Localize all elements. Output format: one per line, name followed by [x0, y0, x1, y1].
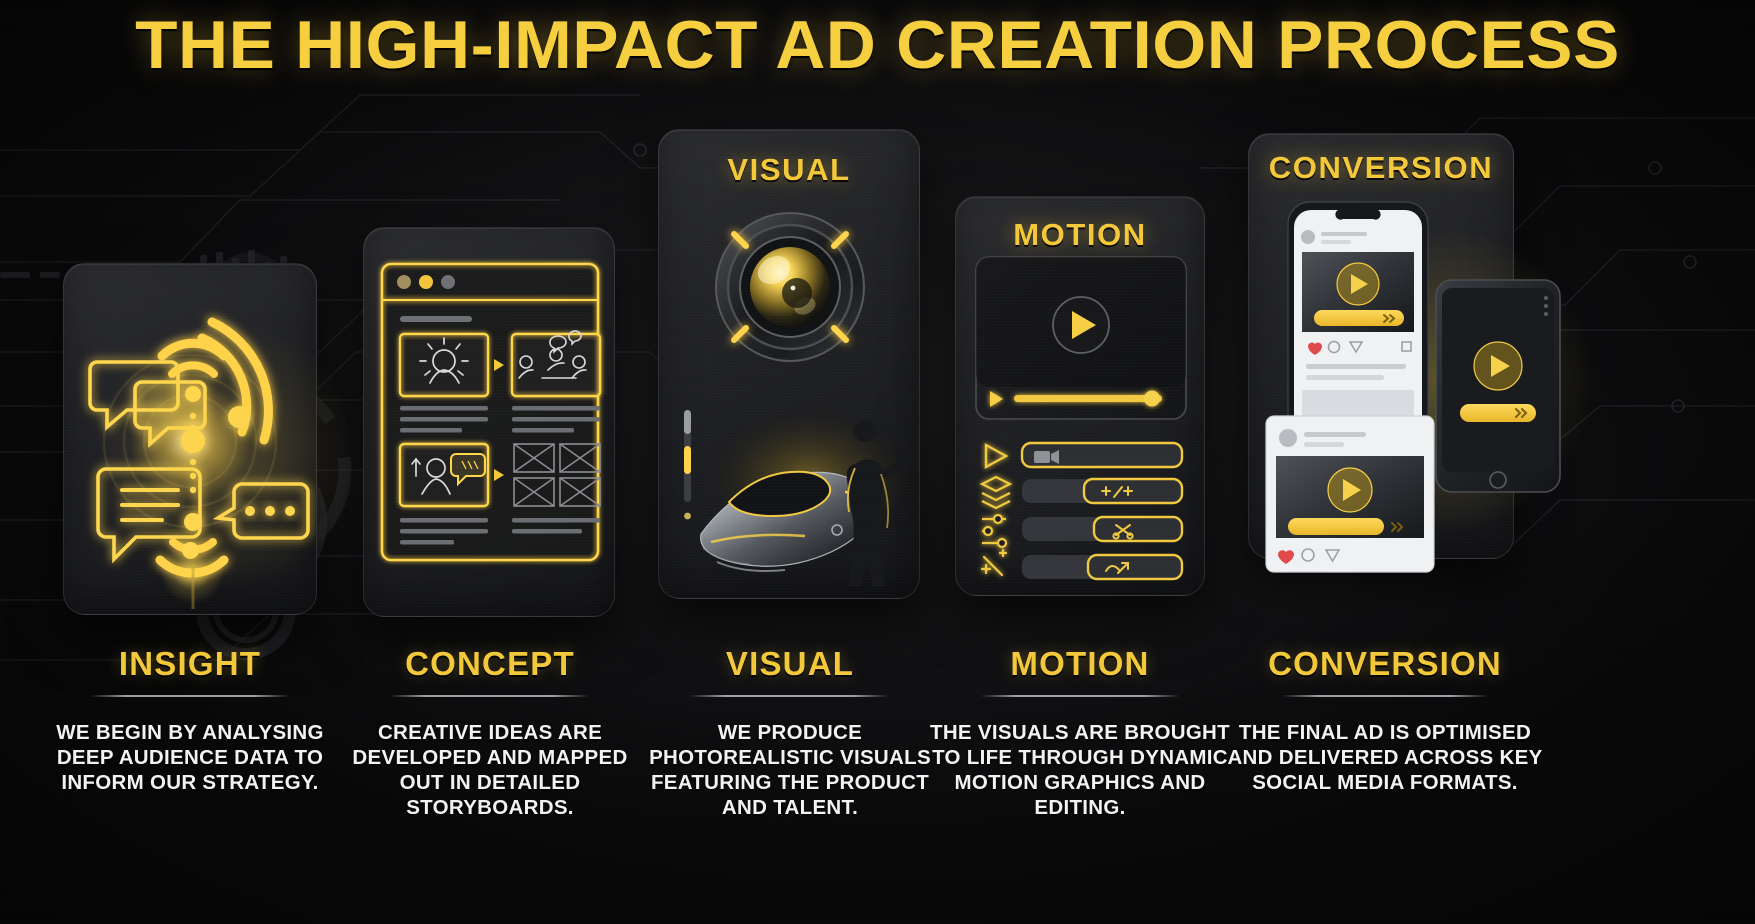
step-divider-insight: [90, 695, 290, 697]
step-description-concept: CREATIVE IDEAS ARE DEVELOPED AND MAPPED …: [330, 720, 650, 820]
step-divider-visual: [689, 695, 889, 697]
step-divider-motion: [980, 695, 1180, 697]
insight-illustration: [64, 264, 317, 615]
step-divider-conversion: [1282, 695, 1488, 697]
step-description-conversion: THE FINAL AD IS OPTIMISED AND DELIVERED …: [1220, 720, 1550, 795]
motion-card-title: MOTION: [956, 217, 1204, 253]
concept-illustration: [364, 228, 615, 617]
step-description-motion: THE VISUALS ARE BROUGHT TO LIFE THROUGH …: [915, 720, 1245, 820]
wand-icon: [982, 550, 1006, 575]
step-label-conversion: CONVERSION: [1185, 645, 1585, 683]
page-title: THE HIGH-IMPACT AD CREATION PROCESS: [0, 6, 1755, 84]
sliders-icon: [982, 515, 1006, 547]
window-dots: [397, 275, 455, 289]
motion-illustration: [956, 197, 1205, 596]
layers-icon: [982, 477, 1010, 508]
step-description-visual: WE PRODUCE PHOTOREALISTIC VISUALS FEATUR…: [630, 720, 950, 820]
dark-phone-mockup: [1436, 280, 1560, 492]
timeline-tracks: [982, 443, 1182, 579]
visual-card-title: VISUAL: [659, 152, 919, 188]
concept-card[interactable]: [363, 227, 615, 617]
white-phone-mockup: [1288, 202, 1428, 450]
step-description-insight: WE BEGIN BY ANALYSING DEEP AUDIENCE DATA…: [30, 720, 350, 795]
social-post-mockup: [1266, 416, 1434, 572]
visual-card[interactable]: VISUAL: [658, 129, 920, 599]
insight-node-dot: [182, 542, 199, 559]
step-divider-concept: [389, 695, 589, 697]
insight-card[interactable]: [63, 263, 317, 615]
exposure-slider: [684, 410, 691, 519]
visual-illustration: [659, 130, 920, 599]
motion-card[interactable]: MOTION: [955, 196, 1205, 596]
conversion-illustration: [1250, 180, 1600, 600]
